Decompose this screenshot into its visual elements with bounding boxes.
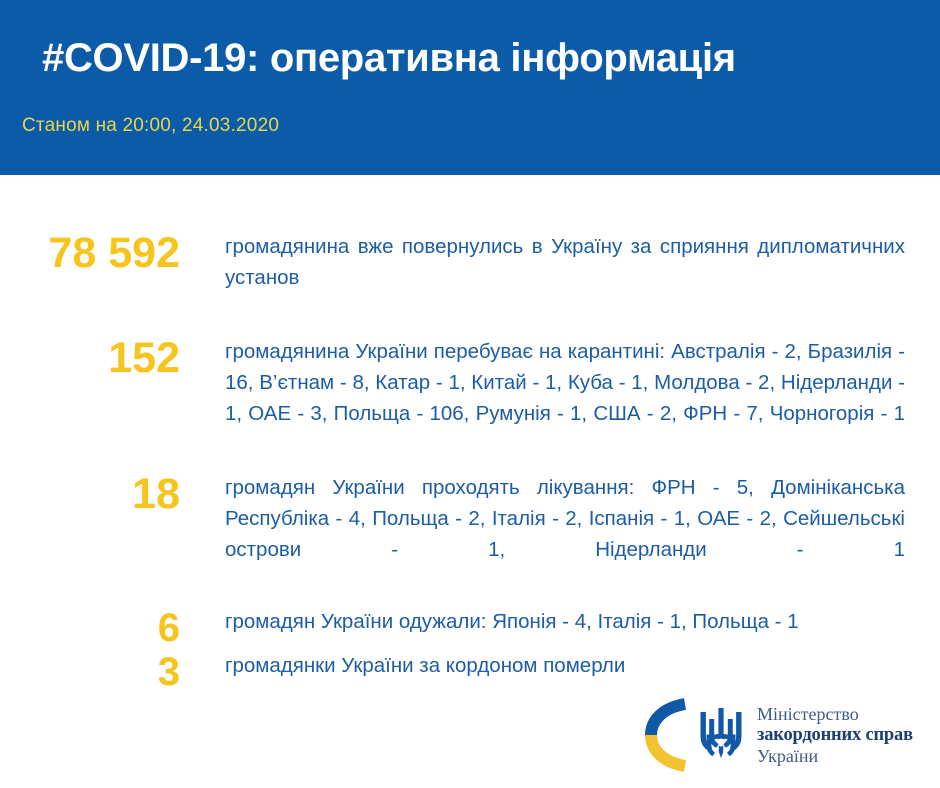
statistics-list: 78 592 громадянина вже повернулись в Укр… [0, 231, 940, 696]
stat-row: 78 592 громадянина вже повернулись в Укр… [0, 231, 940, 324]
tryzub-icon [697, 706, 745, 764]
stat-number: 6 [0, 606, 180, 648]
stat-row: 3 громадянки України за кордоном померли [0, 650, 940, 692]
ministry-name-line-2: закордонних справ [757, 725, 935, 746]
ministry-name-line-1: Міністерство [757, 704, 935, 725]
stat-row: 18 громадян України проходять лікування:… [0, 472, 940, 596]
stat-description: громадянки України за кордоном померли [225, 650, 905, 681]
page-title: #COVID-19: оперативна інформація [42, 36, 736, 80]
stat-row: 152 громадянина України перебуває на кар… [0, 336, 940, 460]
stat-description: громадянина вже повернулись в Україну за… [225, 231, 905, 324]
stat-description: громадянина України перебуває на каранти… [225, 336, 905, 460]
ministry-logo: Міністерство закордонних справ України [645, 694, 935, 776]
stat-number: 18 [0, 472, 180, 514]
stat-description: громадян України проходять лікування: ФР… [225, 472, 905, 596]
stat-number: 78 592 [0, 231, 180, 273]
ministry-logo-text: Міністерство закордонних справ України [757, 704, 935, 767]
stat-number: 3 [0, 650, 180, 692]
stat-row: 6 громадян України одужали: Японія - 4, … [0, 606, 940, 648]
ministry-name-line-3: України [757, 746, 935, 767]
stat-number: 152 [0, 336, 180, 378]
header-band: #COVID-19: оперативна інформація Станом … [0, 0, 940, 175]
stat-description: громадян України одужали: Японія - 4, Іт… [225, 606, 905, 637]
report-timestamp: Станом на 20:00, 24.03.2020 [22, 115, 279, 137]
flag-arc-icon [645, 698, 691, 772]
